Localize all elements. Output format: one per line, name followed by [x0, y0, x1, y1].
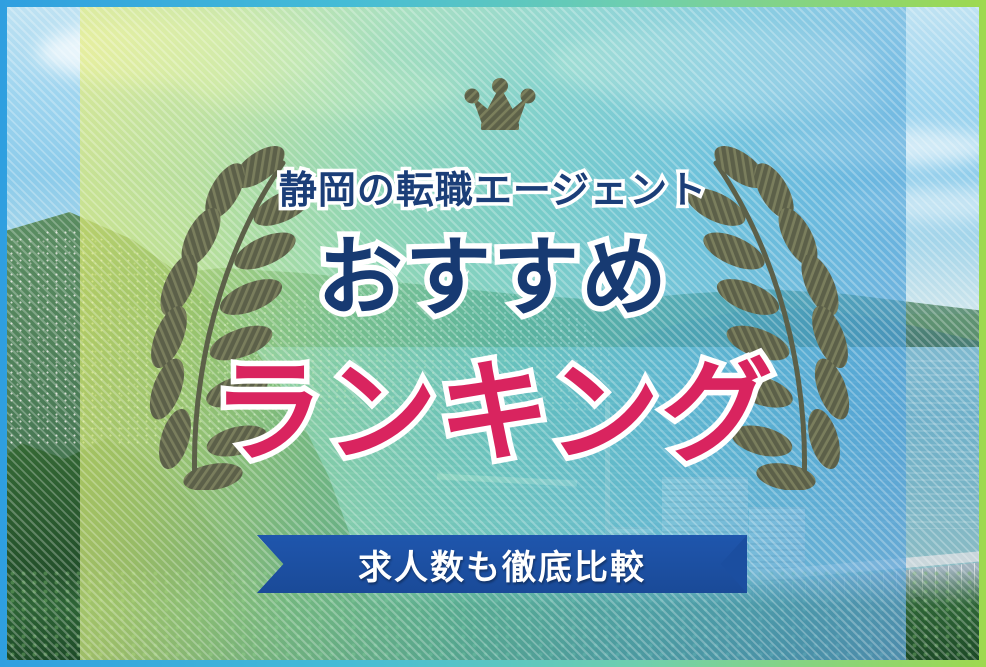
ribbon-banner: 求人数も徹底比較: [257, 535, 747, 593]
banner-image: 静岡の転職エージェント おすすめ ランキング 求人数も徹底比較: [0, 0, 986, 667]
banner-inner: 静岡の転職エージェント おすすめ ランキング 求人数も徹底比較: [7, 7, 979, 660]
crown-icon: [463, 73, 537, 135]
ribbon-label: 求人数も徹底比較: [257, 535, 747, 593]
